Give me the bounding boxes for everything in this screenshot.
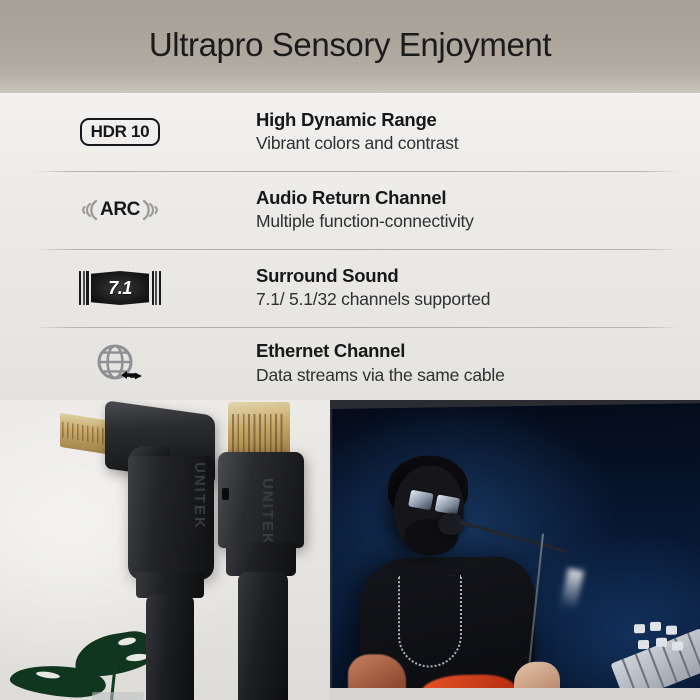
- feature-row-arc: ARC Audio Return Channel Multiple functi…: [0, 171, 700, 249]
- header-band: Ultrapro Sensory Enjoyment: [0, 0, 700, 93]
- feature-title: High Dynamic Range: [256, 109, 700, 132]
- feature-row-surround: 7.1 Surround Sound 7.1/ 5.1/32 channels …: [0, 249, 700, 327]
- feature-subtitle: Vibrant colors and contrast: [256, 132, 700, 155]
- singer-necklace: [398, 575, 462, 668]
- feature-title: Surround Sound: [256, 265, 700, 288]
- arc-waves-right-icon: [141, 197, 163, 223]
- guitar-tuning-pegs: [632, 621, 684, 656]
- feature-text-cell: Audio Return Channel Multiple function-c…: [256, 187, 700, 233]
- globe-ethernet-icon: [94, 341, 146, 387]
- product-feature-infographic: Ultrapro Sensory Enjoyment HDR 10 High D…: [0, 0, 700, 700]
- surround-label: 7.1: [108, 278, 132, 299]
- hdmi-cable-pair: UNITEK UNITEK: [0, 400, 360, 700]
- hdr10-badge-icon: HDR 10: [80, 118, 161, 147]
- feature-icon-cell: HDR 10: [0, 93, 256, 171]
- feature-row-hdr: HDR 10 High Dynamic Range Vibrant colors…: [0, 93, 700, 171]
- arc-audio-icon: ARC: [77, 197, 163, 223]
- hdmi-strain-relief-right: [238, 572, 288, 700]
- tv-screen-concert-scene: [332, 403, 700, 700]
- feature-title: Audio Return Channel: [256, 187, 700, 210]
- globe-with-arrows-icon: [94, 341, 146, 387]
- feature-subtitle: 7.1/ 5.1/32 channels supported: [256, 288, 700, 311]
- surround-bars-right-icon: [152, 271, 162, 305]
- arc-label: ARC: [99, 199, 141, 221]
- feature-title: Ethernet Channel: [256, 340, 700, 363]
- hdmi-connector-notch: [222, 488, 229, 500]
- page-title: Ultrapro Sensory Enjoyment: [0, 26, 700, 64]
- hdmi-strain-relief-left: [146, 594, 194, 700]
- microphone-boom: [460, 521, 568, 553]
- feature-icon-cell: [0, 325, 256, 403]
- stage-light: [560, 568, 584, 610]
- feature-subtitle: Data streams via the same cable: [256, 364, 700, 387]
- feature-icon-cell: 7.1: [0, 249, 256, 327]
- feature-row-ethernet: Ethernet Channel Data streams via the sa…: [0, 327, 700, 400]
- brand-logo-left: UNITEK: [182, 462, 208, 572]
- feature-text-cell: Surround Sound 7.1/ 5.1/32 channels supp…: [256, 265, 700, 311]
- feature-list: HDR 10 High Dynamic Range Vibrant colors…: [0, 93, 700, 400]
- feature-text-cell: Ethernet Channel Data streams via the sa…: [256, 340, 700, 386]
- arc-waves-left-icon: [77, 197, 99, 223]
- surround-71-badge-icon: 7.1: [79, 271, 161, 305]
- surround-plate: 7.1: [91, 271, 149, 305]
- product-photo: UNITEK UNITEK: [0, 400, 700, 700]
- feature-icon-cell: ARC: [0, 171, 256, 249]
- feature-text-cell: High Dynamic Range Vibrant colors and co…: [256, 109, 700, 155]
- surround-bars-left-icon: [79, 271, 89, 305]
- tv-lower-edge: [330, 688, 700, 700]
- feature-subtitle: Multiple function-connectivity: [256, 210, 700, 233]
- hdmi-collar-right: [226, 542, 296, 576]
- hdmi-contact-pins-right: [232, 414, 286, 454]
